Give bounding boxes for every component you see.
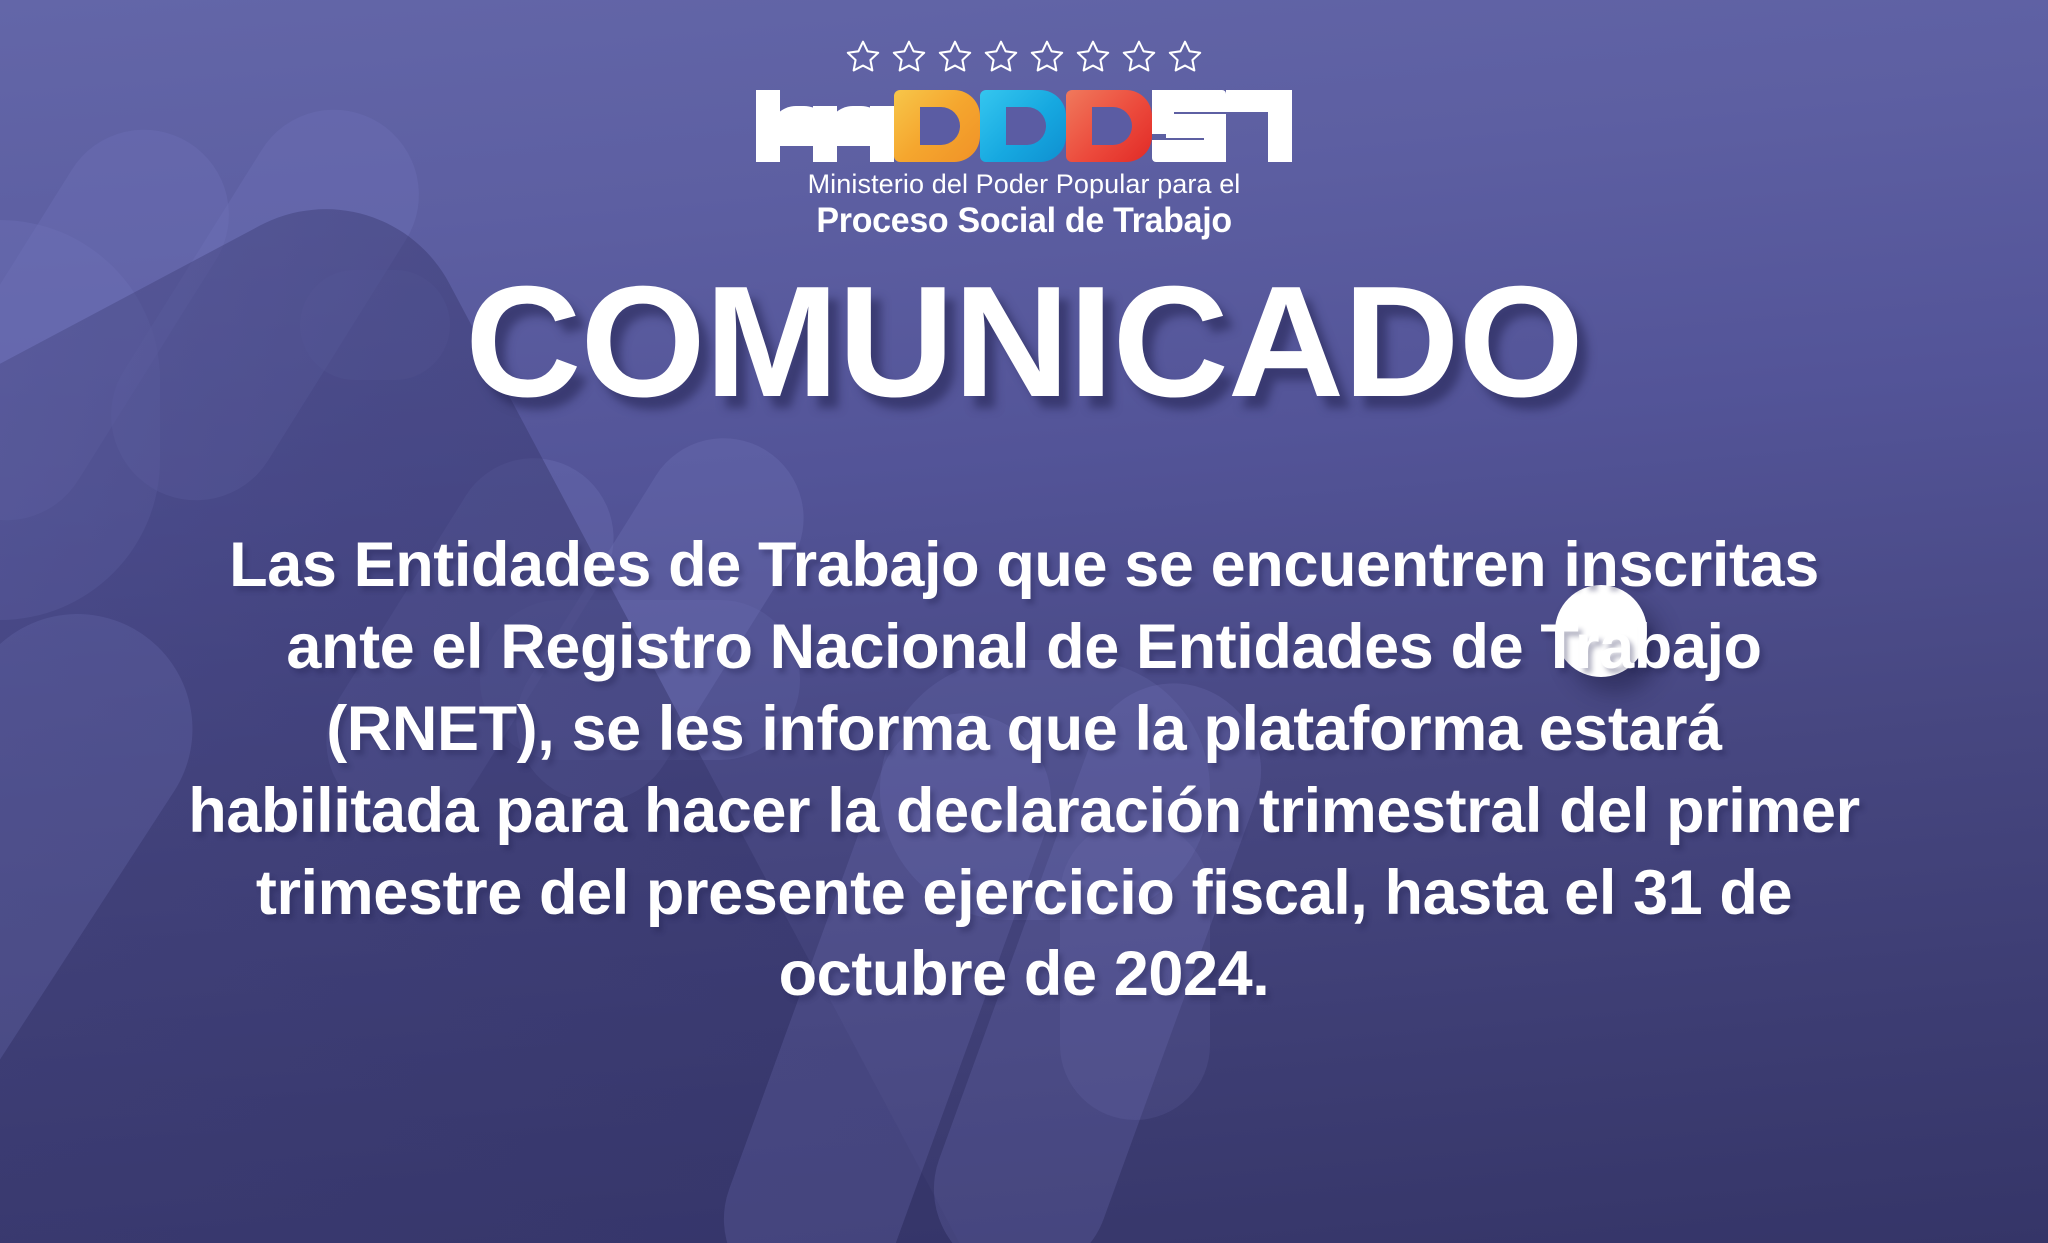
logo-tagline-line2: Proceso Social de Trabajo [816, 201, 1231, 241]
logo-letter-p-orange [894, 90, 980, 162]
star-outline-icon [889, 38, 929, 76]
star-outline-icon [1027, 38, 1067, 76]
logo-letter-t [1226, 90, 1292, 162]
page-title: COMUNICADO [465, 263, 1583, 421]
star-row [843, 38, 1205, 76]
ministry-logo: Ministerio del Poder Popular para el Pro… [744, 38, 1304, 241]
star-outline-icon [1119, 38, 1159, 76]
star-outline-icon [1073, 38, 1113, 76]
star-outline-icon [1165, 38, 1205, 76]
announcement-body: Las Entidades de Trabajo que se encuentr… [174, 525, 1874, 1016]
announcement-poster: Ministerio del Poder Popular para el Pro… [0, 0, 2048, 1243]
logo-letter-s [1152, 90, 1226, 162]
star-outline-icon [981, 38, 1021, 76]
logo-letter-m [756, 90, 894, 162]
logo-tagline-line1: Ministerio del Poder Popular para el [808, 169, 1241, 200]
logo-letter-p-red [1066, 90, 1152, 162]
star-outline-icon [935, 38, 975, 76]
star-outline-icon [843, 38, 883, 76]
logo-letter-p-cyan [980, 90, 1066, 162]
logo-wordmark-mpppst [756, 84, 1292, 162]
